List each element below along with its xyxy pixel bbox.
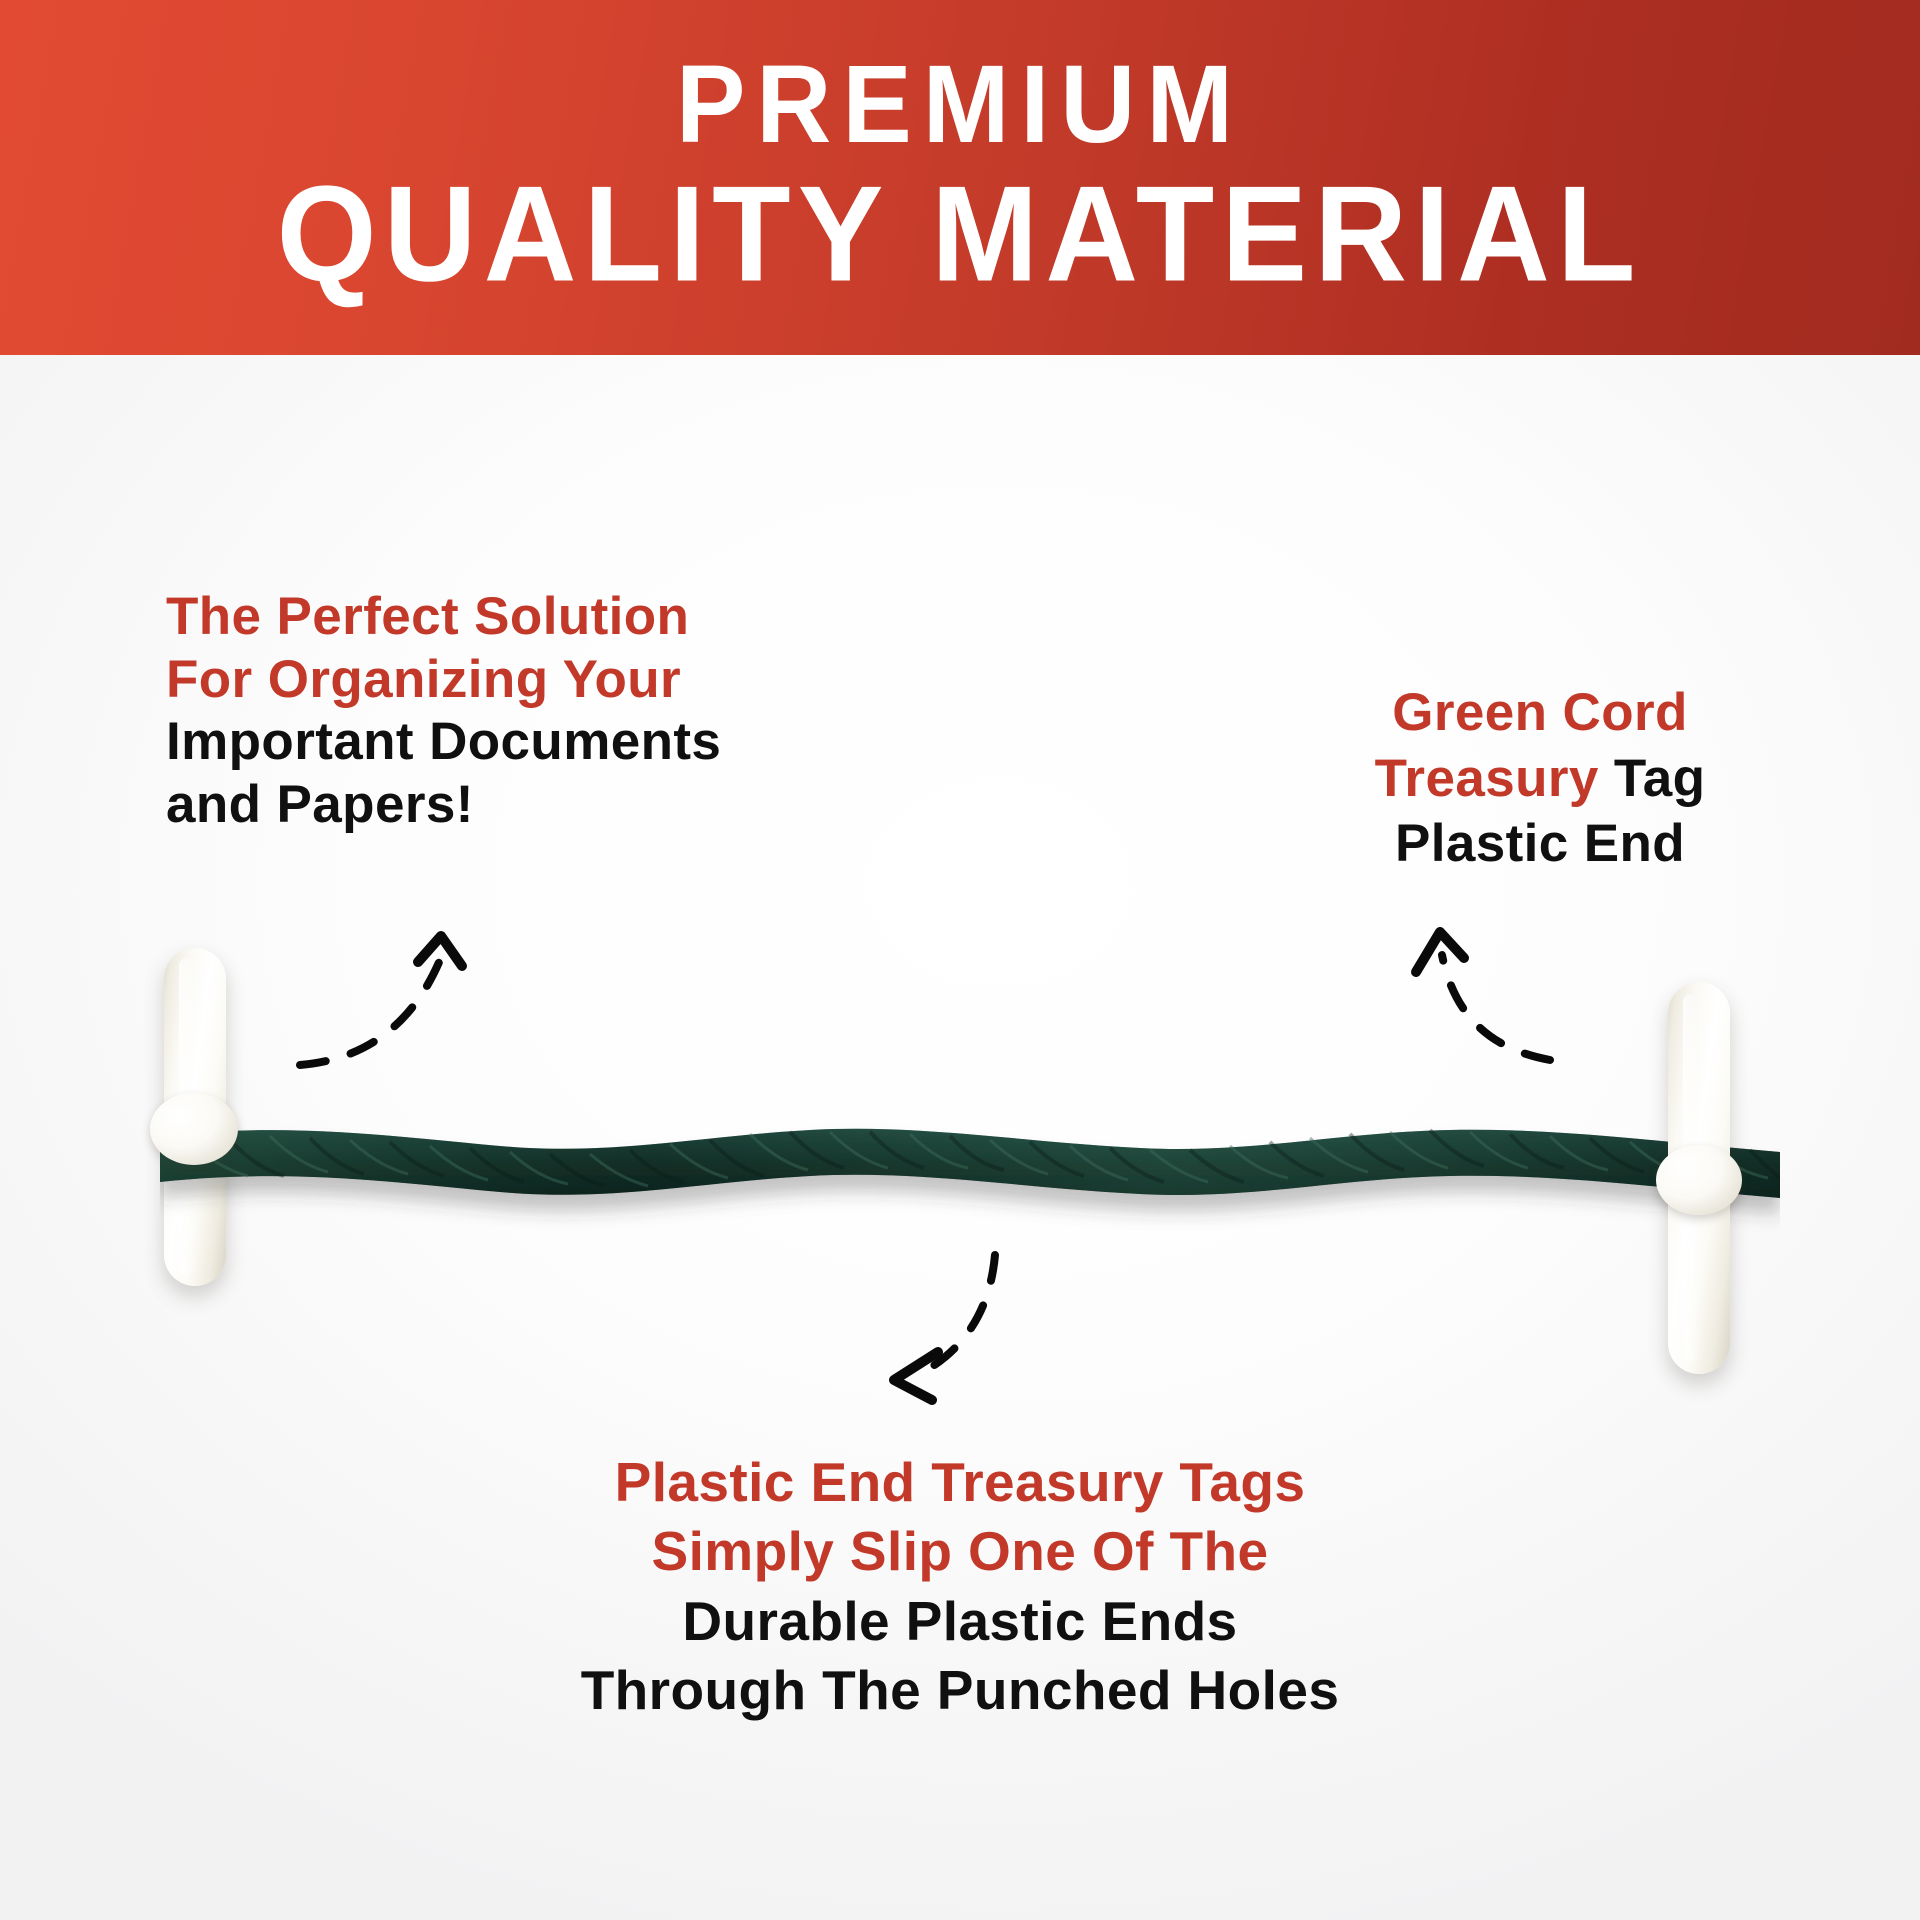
callout-bottom-line-4: Through The Punched Holes — [210, 1656, 1710, 1725]
arrow-bottom-head — [894, 1352, 938, 1400]
callout-left-line-2: For Organizing Your — [166, 649, 721, 712]
arrow-bottom-icon — [860, 1240, 1080, 1440]
callout-left-line-1: The Perfect Solution — [166, 586, 721, 649]
callout-left: The Perfect Solution For Organizing Your… — [166, 586, 721, 836]
banner-title-line-2: QUALITY MATERIAL — [277, 165, 1643, 301]
callout-left-line-4: and Papers! — [166, 774, 721, 837]
callout-left-line-3: Important Documents — [166, 711, 721, 774]
callout-right-line-2-word-tag: Tag — [1614, 749, 1706, 808]
callout-bottom: Plastic End Treasury Tags Simply Slip On… — [210, 1448, 1710, 1725]
callout-right-line-2-dark — [1599, 749, 1614, 808]
cord-shading — [160, 1129, 1780, 1198]
callout-right-line-2: Treasury Tag — [1290, 746, 1790, 812]
arrow-right-curve — [1442, 955, 1550, 1060]
callout-right: Green Cord Treasury Tag Plastic End — [1290, 680, 1790, 877]
cord-knot-left — [150, 1093, 238, 1165]
cord-knot-right — [1656, 1145, 1742, 1215]
arrow-left-curve — [300, 960, 440, 1065]
callout-bottom-line-3: Durable Plastic Ends — [210, 1587, 1710, 1656]
infographic-page: PREMIUM QUALITY MATERIAL The Perfect Sol… — [0, 0, 1920, 1920]
callout-right-line-2-red: Treasury — [1375, 749, 1599, 808]
arrow-right-icon — [1400, 900, 1600, 1100]
callout-right-line-1: Green Cord — [1290, 680, 1790, 746]
banner-title-line-1: PREMIUM — [676, 49, 1244, 159]
callout-right-line-3: Plastic End — [1290, 811, 1790, 877]
callout-bottom-line-1: Plastic End Treasury Tags — [210, 1448, 1710, 1517]
header-banner: PREMIUM QUALITY MATERIAL — [0, 0, 1920, 355]
callout-bottom-line-2: Simply Slip One Of The — [210, 1517, 1710, 1586]
arrow-left-icon — [290, 900, 520, 1100]
